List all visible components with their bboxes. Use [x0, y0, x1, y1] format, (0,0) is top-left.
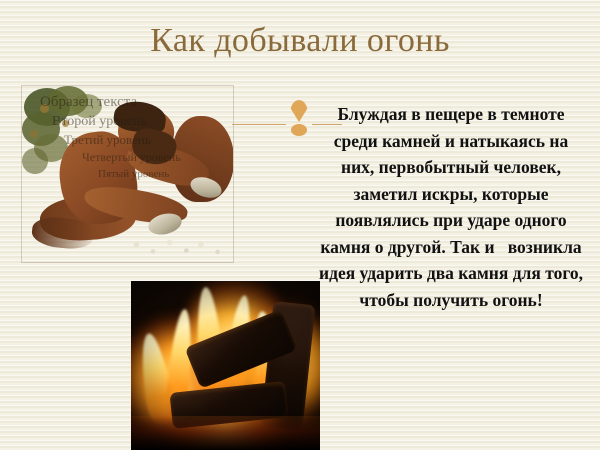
body-paragraph: Блуждая в пещере в темноте среди камней … — [318, 101, 584, 313]
bullet-rule-left — [232, 124, 286, 125]
caveman-illustration-art — [22, 86, 233, 262]
exclamation-bullet-stem — [290, 100, 308, 122]
caveman-image: Образец текста Второй уровень Третий уро… — [22, 86, 233, 262]
fire-photo-art — [131, 281, 320, 450]
exclamation-bullet-icon — [288, 100, 310, 136]
exclamation-bullet-dot — [291, 124, 307, 136]
fire-image — [131, 281, 320, 450]
slide-canvas: Как добывали огонь Обр — [0, 0, 600, 450]
page-title: Как добывали огонь — [0, 21, 600, 61]
